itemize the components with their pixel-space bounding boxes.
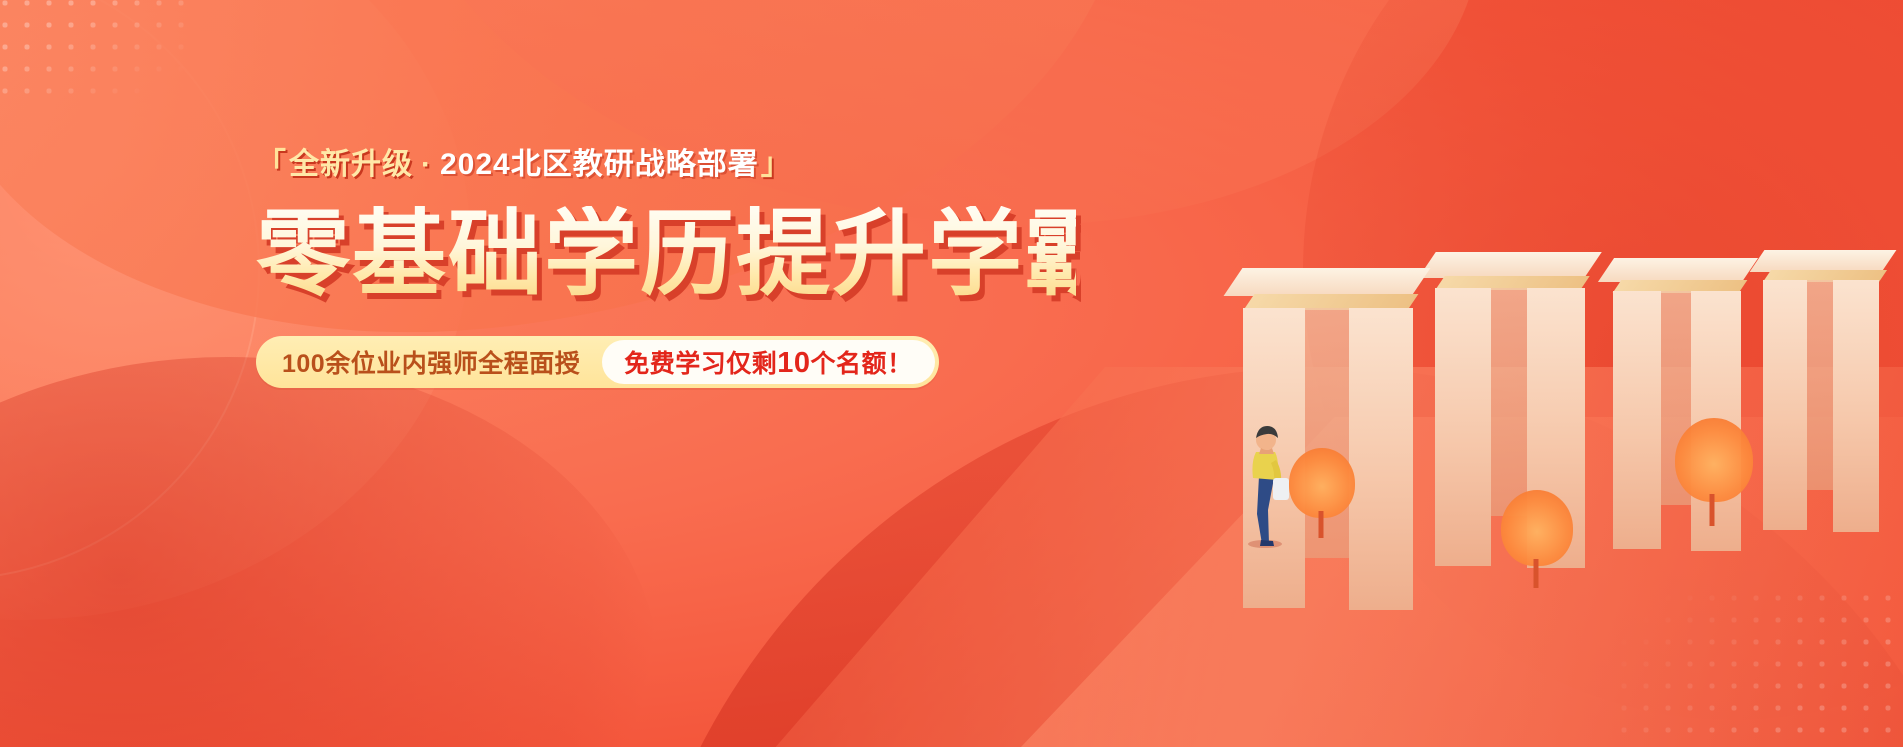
- tree-2: [1675, 418, 1753, 526]
- seats-chip[interactable]: 免费学习仅剩10个名额！: [602, 340, 934, 384]
- eyebrow-line: 「 全新升级 · 2024北区教研战略部署 」: [256, 150, 1076, 180]
- seats-suffix: 个名额！: [811, 350, 913, 378]
- tree-1: [1289, 448, 1355, 538]
- highlight-pill: 100余位业内强师全程面授 免费学习仅剩10个名额！: [256, 336, 939, 388]
- tree-3: [1501, 490, 1573, 588]
- eyebrow-gold-text: 全新升级: [289, 150, 413, 180]
- page-title: 零基础学历提升学霸班: [256, 206, 1076, 302]
- person-figure: [1235, 418, 1295, 548]
- seats-chip-text: 免费学习仅剩10个名额！: [624, 344, 912, 380]
- illustration: [983, 0, 1903, 747]
- pill-label: 100余位业内强师全程面授: [282, 344, 602, 380]
- book-arch-4: [1763, 250, 1883, 550]
- eyebrow-separator: ·: [415, 150, 438, 180]
- copy-block: 「 全新升级 · 2024北区教研战略部署 」 零基础学历提升学霸班 100余位…: [256, 150, 1076, 388]
- seats-number: 10: [777, 347, 810, 379]
- bracket-close: 」: [761, 150, 792, 180]
- dot-grid-top-left-icon: [0, 0, 194, 102]
- background-blob-bottom-left: [0, 357, 660, 747]
- eyebrow-white-text: 2024北区教研战略部署: [440, 150, 759, 180]
- seats-prefix: 免费学习仅剩: [624, 350, 777, 378]
- bracket-open: 「: [256, 150, 287, 180]
- promo-banner: 「 全新升级 · 2024北区教研战略部署 」 零基础学历提升学霸班 100余位…: [0, 0, 1903, 747]
